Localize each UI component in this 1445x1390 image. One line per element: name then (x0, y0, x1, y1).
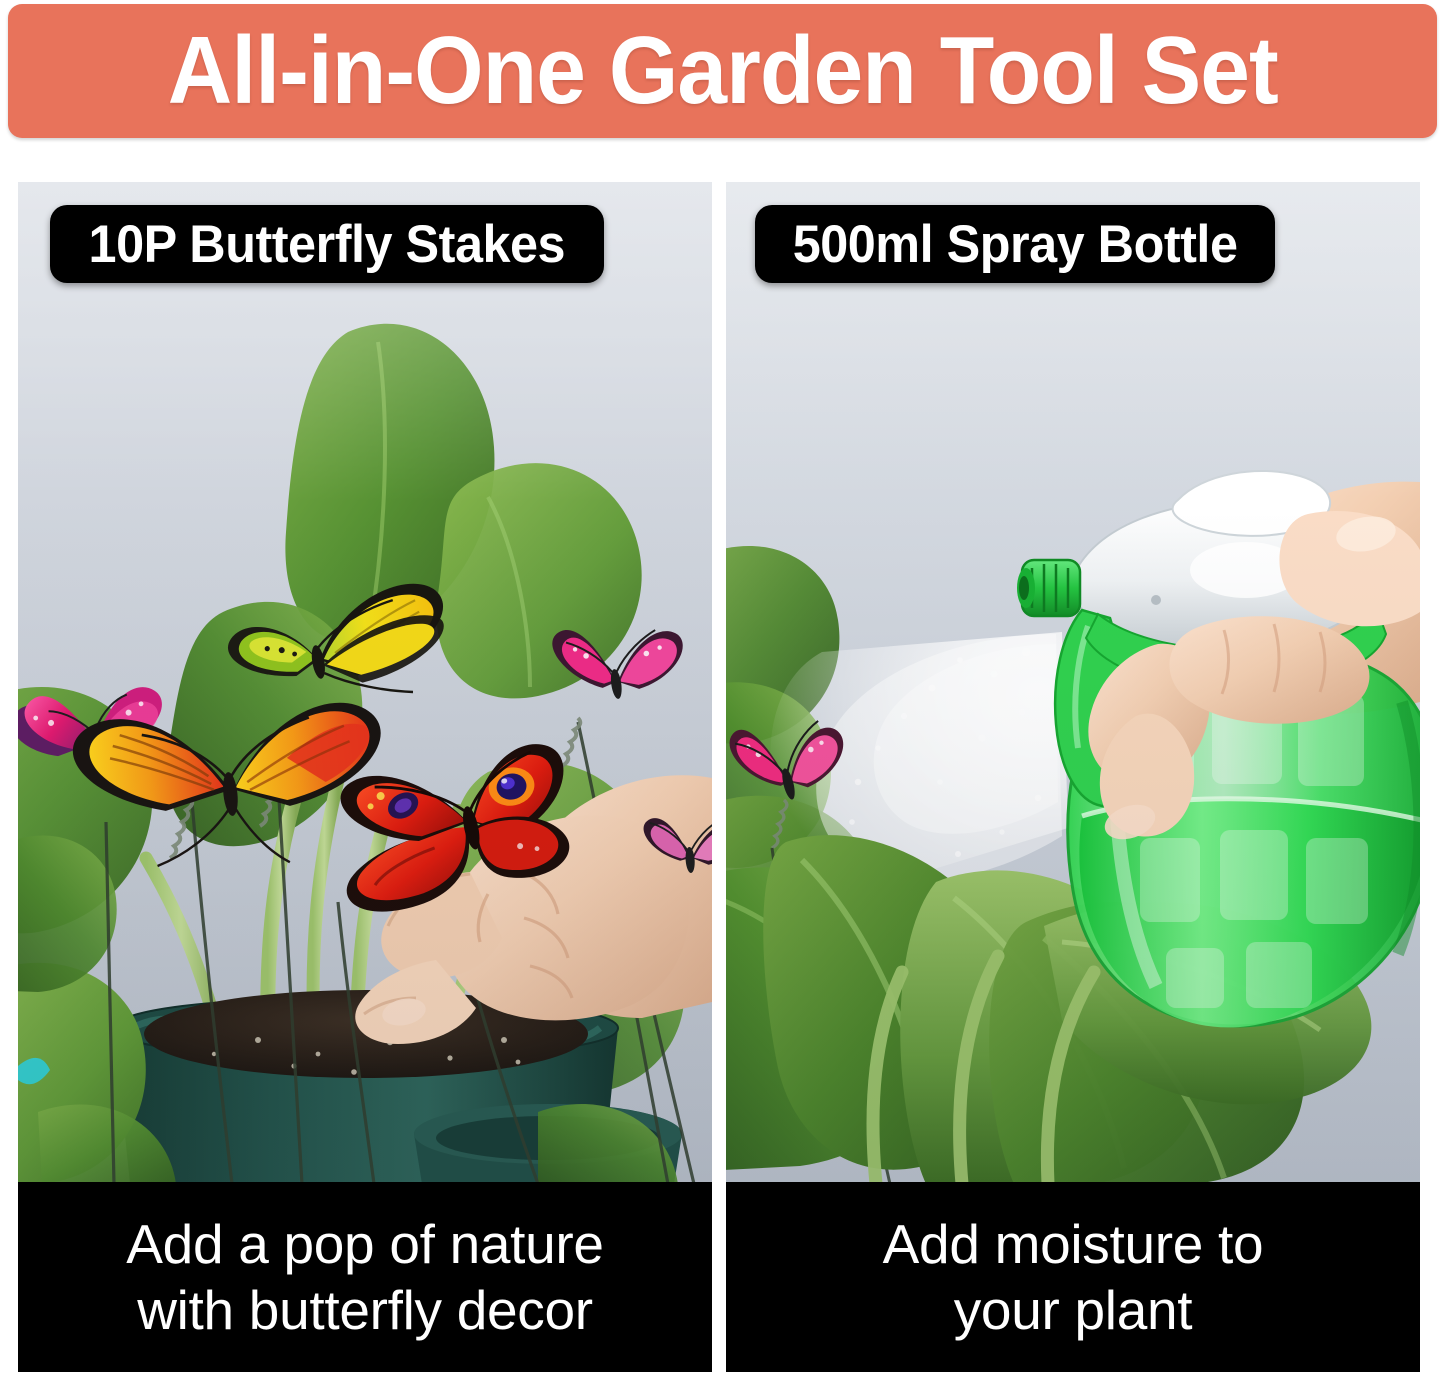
butterfly-stakes-illustration (18, 182, 712, 1184)
photo-butterfly-stakes (18, 182, 712, 1184)
header-banner: All-in-One Garden Tool Set (8, 4, 1437, 138)
panel-spray-bottle: 500ml Spray Bottle Add moisture to your … (726, 182, 1420, 1372)
label-spray-bottle-text: 500ml Spray Bottle (793, 218, 1238, 271)
caption-line-2: your plant (954, 1277, 1193, 1343)
label-butterfly-stakes: 10P Butterfly Stakes (50, 205, 604, 283)
panel-butterfly-stakes: 10P Butterfly Stakes Add a pop of nature… (18, 182, 712, 1372)
photo-spray-bottle (726, 182, 1420, 1184)
caption-spray-bottle: Add moisture to your plant (726, 1182, 1420, 1372)
page-title: All-in-One Garden Tool Set (167, 23, 1277, 119)
spray-nozzle (1017, 560, 1080, 616)
caption-line-1: Add a pop of nature (126, 1211, 603, 1277)
spray-bottle-illustration (726, 182, 1420, 1184)
caption-line-2: with butterfly decor (137, 1277, 593, 1343)
caption-line-1: Add moisture to (883, 1211, 1264, 1277)
label-spray-bottle: 500ml Spray Bottle (755, 205, 1275, 283)
panel-grid: 10P Butterfly Stakes Add a pop of nature… (18, 182, 1427, 1372)
label-butterfly-stakes-text: 10P Butterfly Stakes (89, 218, 566, 271)
caption-butterfly-stakes: Add a pop of nature with butterfly decor (18, 1182, 712, 1372)
